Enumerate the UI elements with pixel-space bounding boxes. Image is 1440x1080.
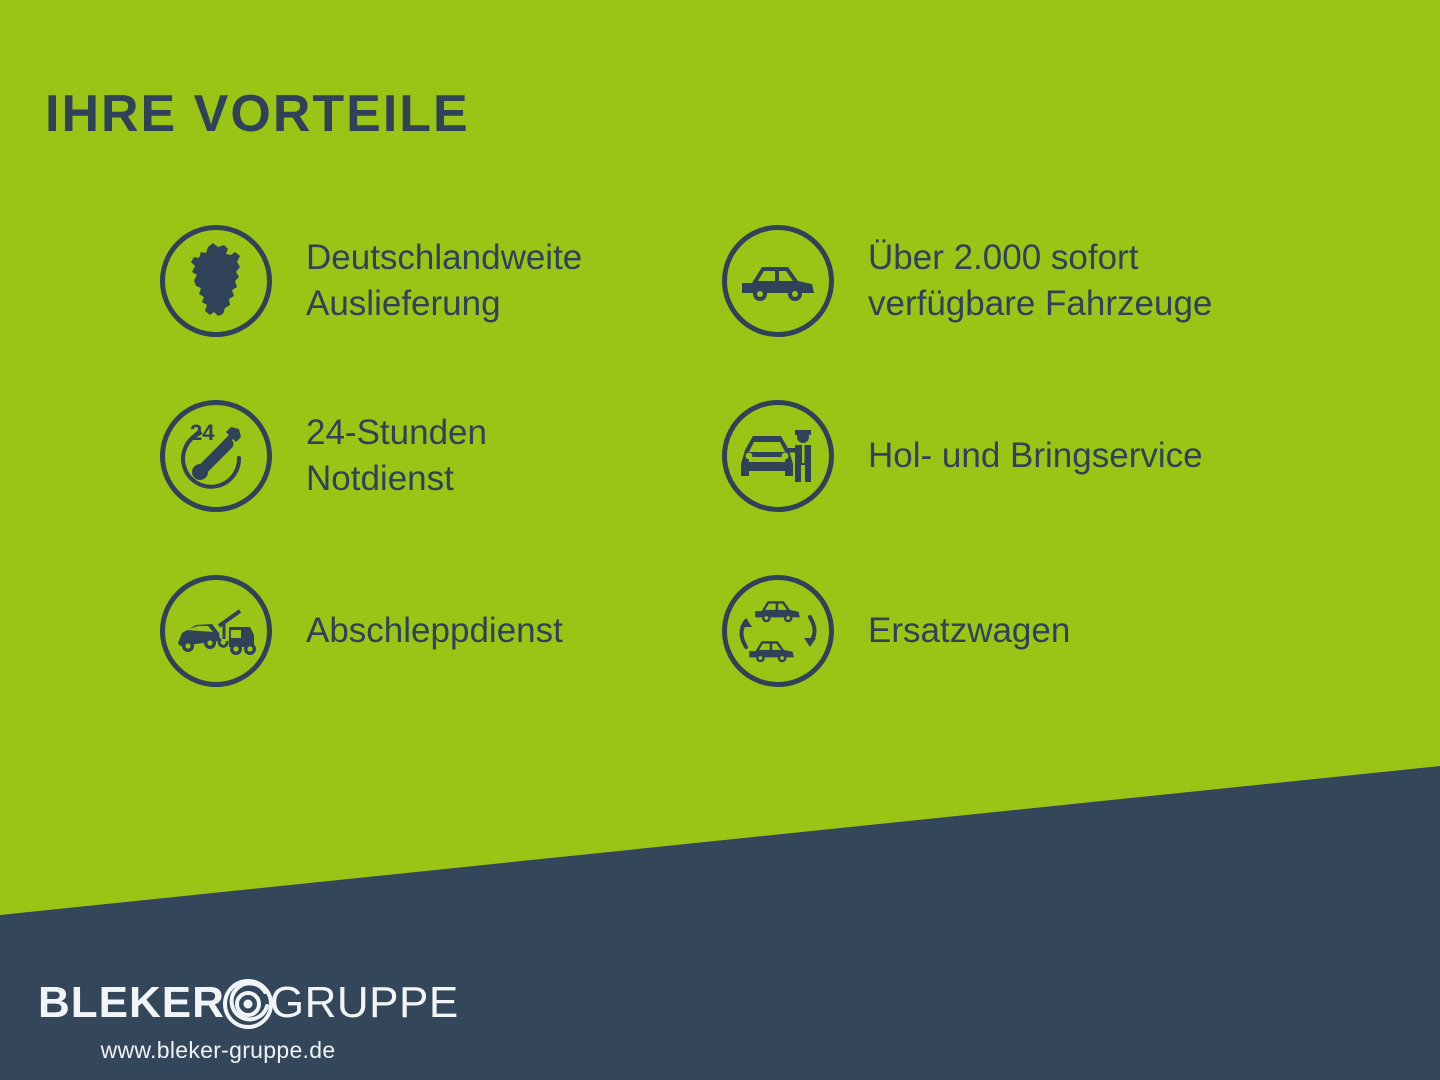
tow-truck-icon bbox=[160, 575, 272, 687]
slide-canvas: IHRE VORTEILE Deutschlandweite Ausliefer… bbox=[0, 0, 1440, 1080]
benefit-item-abschleppdienst[interactable]: Abschleppdienst bbox=[160, 572, 720, 690]
car-with-driver-icon bbox=[722, 400, 834, 512]
benefit-label: 24-Stunden Notdienst bbox=[306, 410, 487, 502]
svg-text:24: 24 bbox=[190, 420, 215, 445]
logo-word-bleker: BLEKER bbox=[38, 981, 225, 1025]
logo-website-url[interactable]: www.bleker-gruppe.de bbox=[38, 1037, 398, 1064]
benefit-label: Hol- und Bringservice bbox=[868, 433, 1203, 479]
replacement-car-icon bbox=[722, 575, 834, 687]
logo-wordmark-row: BLEKER GRUPPE bbox=[38, 975, 459, 1031]
benefit-label: Über 2.000 sofort verfügbare Fahrzeuge bbox=[868, 235, 1212, 327]
benefit-item-deutschlandweite-auslieferung[interactable]: Deutschlandweite Auslieferung bbox=[160, 222, 720, 340]
brand-logo[interactable]: BLEKER GRUPPE www.bleker-gruppe.de bbox=[38, 975, 459, 1064]
benefit-label: Deutschlandweite Auslieferung bbox=[306, 235, 582, 327]
benefit-label: Abschleppdienst bbox=[306, 608, 563, 654]
benefit-item-ersatzwagen[interactable]: Ersatzwagen bbox=[722, 572, 1322, 690]
benefit-label: Ersatzwagen bbox=[868, 608, 1070, 654]
page-title: IHRE VORTEILE bbox=[45, 84, 470, 144]
benefit-item-hol-und-bringservice[interactable]: Hol- und Bringservice bbox=[722, 397, 1322, 515]
spiral-circle-icon bbox=[221, 976, 275, 1030]
benefit-item-verfuegbare-fahrzeuge[interactable]: Über 2.000 sofort verfügbare Fahrzeuge bbox=[722, 222, 1322, 340]
benefit-item-24-stunden-notdienst[interactable]: 24 24-Stunden Notdienst bbox=[160, 397, 720, 515]
benefits-right-column: Über 2.000 sofort verfügbare Fahrzeuge bbox=[722, 222, 1322, 747]
benefits-left-column: Deutschlandweite Auslieferung 24 2 bbox=[160, 222, 720, 747]
logo-word-gruppe: GRUPPE bbox=[270, 981, 459, 1025]
car-side-icon bbox=[722, 225, 834, 337]
germany-map-icon bbox=[160, 225, 272, 337]
24-hours-wrench-icon: 24 bbox=[160, 400, 272, 512]
